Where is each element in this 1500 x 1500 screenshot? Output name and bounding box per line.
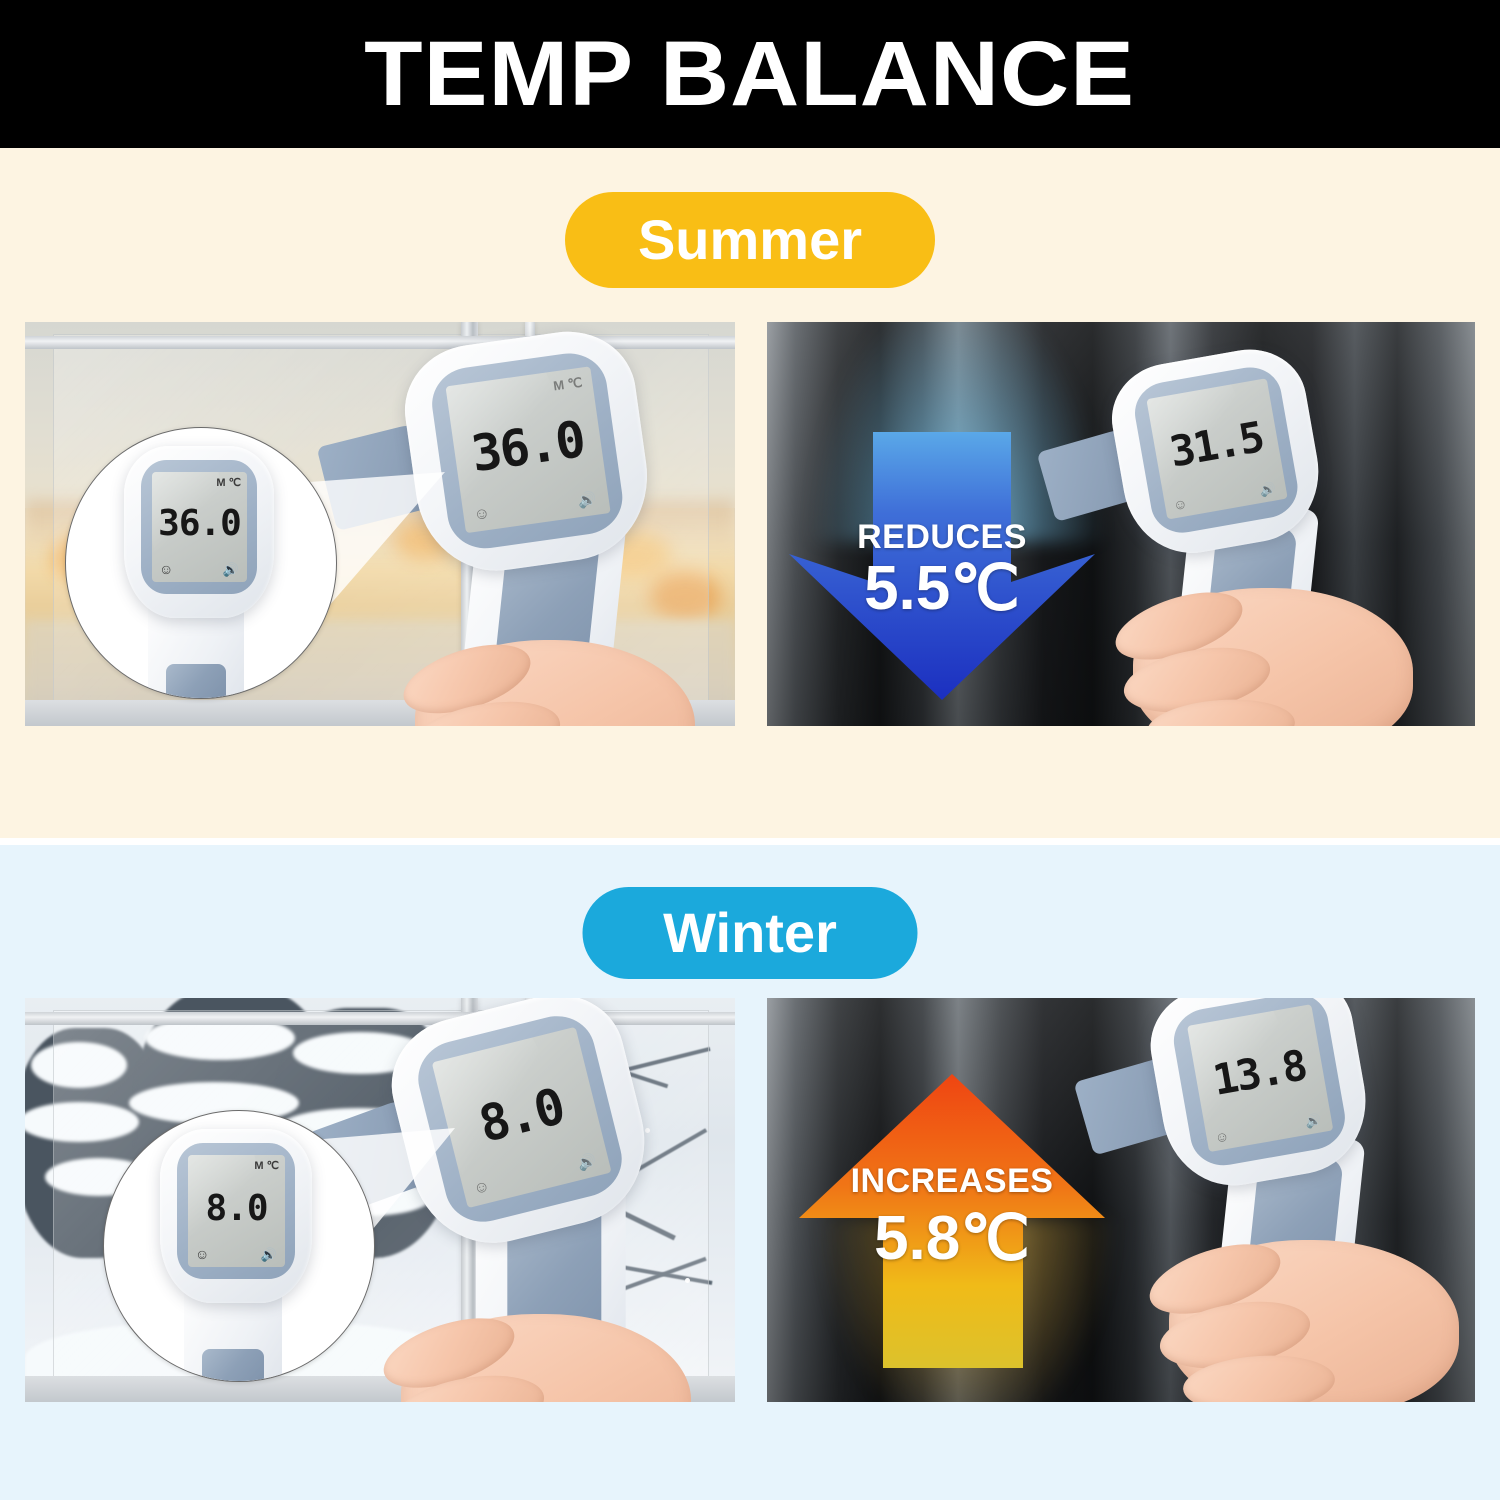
lcd-unit-label-winter-zoom: M ℃ xyxy=(254,1161,279,1172)
magnifier-circle-summer-left: M ℃ 36.0 ☺ 🔊 xyxy=(65,427,337,699)
neutral-face-icon-zoom: ☺ xyxy=(159,562,173,576)
summer-badge: Summer xyxy=(565,192,935,288)
increases-arrow-value: 5.8℃ xyxy=(787,1208,1117,1270)
infographic-page: TEMP BALANCE Summer xyxy=(0,0,1500,1500)
winter-section: Winter xyxy=(0,845,1500,1500)
summer-section: Summer xyxy=(0,148,1500,838)
lcd-reading-zoom: 36.0 xyxy=(152,506,247,542)
winter-badge: Winter xyxy=(583,887,918,979)
speaker-icon-wr: 🔊 xyxy=(1304,1113,1322,1129)
section-divider xyxy=(0,838,1500,845)
winter-badge-label: Winter xyxy=(663,905,837,961)
page-title: TEMP BALANCE xyxy=(365,28,1136,120)
hand-summer-right xyxy=(1083,574,1443,726)
winter-curtain-photo: INCREASES 5.8℃ 13.8 ☺ 🔊 xyxy=(767,998,1475,1402)
speaker-icon-sr: 🔊 xyxy=(1259,481,1277,497)
hand-winter-right xyxy=(1117,1224,1475,1402)
thermometer-zoomed-summer: M ℃ 36.0 ☺ 🔊 xyxy=(124,446,274,699)
reduces-arrow-title: REDUCES xyxy=(777,520,1107,554)
winter-no-used-photo: 8.0 ☺ 🔊 xyxy=(25,998,735,1402)
reduces-arrow-value: 5.5℃ xyxy=(777,558,1107,620)
lcd-reading-winter-zoom: 8.0 xyxy=(188,1191,285,1227)
summer-curtain-photo: REDUCES 5.5℃ 31.5 ☺ 🔊 xyxy=(767,322,1475,726)
lcd-unit-label-zoom: M ℃ xyxy=(216,478,241,489)
increases-arrow: INCREASES 5.8℃ xyxy=(787,1068,1117,1368)
thermometer-zoomed-winter: M ℃ 8.0 ☺ 🔊 xyxy=(160,1129,312,1382)
speaker-icon-zoom: 🔊 xyxy=(223,563,239,576)
summer-badge-label: Summer xyxy=(638,212,862,268)
summer-no-used-photo: M ℃ 36.0 ☺ 🔊 xyxy=(25,322,735,726)
increases-arrow-title: INCREASES xyxy=(787,1164,1117,1198)
neutral-face-icon-wr: ☺ xyxy=(1214,1129,1231,1145)
page-header: TEMP BALANCE xyxy=(0,0,1500,148)
magnifier-circle-winter-left: M ℃ 8.0 ☺ 🔊 xyxy=(103,1110,375,1382)
speaker-icon-winter-zoom: 🔊 xyxy=(261,1248,277,1261)
neutral-face-icon-winter-zoom: ☺ xyxy=(195,1247,209,1261)
neutral-face-icon-sr: ☺ xyxy=(1172,496,1189,512)
